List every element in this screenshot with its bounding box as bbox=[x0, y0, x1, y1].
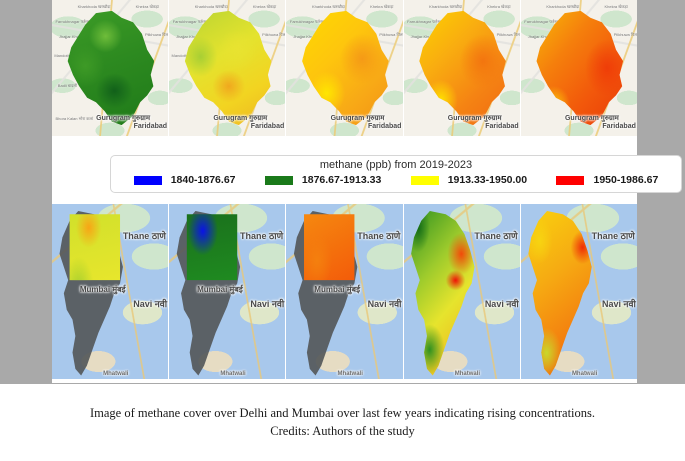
place-label-badli: Badli बादली bbox=[58, 84, 77, 88]
legend-swatch-green bbox=[265, 176, 293, 185]
place-label-pilkhuwa: Pilkhuwa पिलखुवा bbox=[145, 33, 168, 37]
place-label-bhorakalan: Bhora Kalan भोरा कलां bbox=[55, 117, 93, 121]
figure-plate: Kharkhoda खरखौदा Khekra खेकड़ा Farrukhna… bbox=[52, 0, 637, 383]
legend-item-label: 1950-1986.67 bbox=[593, 174, 658, 186]
legend-item-label: 1876.67-1913.33 bbox=[302, 174, 381, 186]
mumbai-map-panel-4[interactable]: Thane ठाणे Navi नवी Mhatwali bbox=[404, 204, 520, 379]
mumbai-map-panel-1[interactable]: Mumbai मुंबई Thane ठाणे Navi नवी Mhatwal… bbox=[52, 204, 168, 379]
legend-item-label: 1913.33-1950.00 bbox=[448, 174, 527, 186]
legend-item: 1840-1876.67 bbox=[134, 174, 236, 186]
place-label-khekra: Khekra खेकड़ा bbox=[253, 5, 276, 9]
mumbai-map-panel-3[interactable]: Thane ठाणे Navi नवी Mumbai मुंबई Mhatwal… bbox=[286, 204, 402, 379]
delhi-map-row: Kharkhoda खरखौदा Khekra खेकड़ा Farrukhna… bbox=[52, 0, 637, 136]
delhi-map-panel-1[interactable]: Kharkhoda खरखौदा Khekra खेकड़ा Farrukhna… bbox=[52, 0, 168, 136]
place-label-pilkhuwa: Pilkhuwa पिलखुवा bbox=[379, 33, 402, 37]
legend-swatch-yellow bbox=[411, 176, 439, 185]
delhi-map-panel-2[interactable]: Kharkhoda खरखौदा Khekra खेकड़ा Farrukhna… bbox=[169, 0, 285, 136]
place-label-khekra: Khekra खेकड़ा bbox=[604, 5, 627, 9]
place-label-kharkhoda: Kharkhoda खरखौदा bbox=[78, 5, 111, 9]
legend-swatch-red bbox=[556, 176, 584, 185]
delhi-map-panel-5[interactable]: Kharkhoda खरखौदा Khekra खेकड़ा Farrukhna… bbox=[521, 0, 637, 136]
legend-item: 1913.33-1950.00 bbox=[411, 174, 527, 186]
place-label-khekra: Khekra खेकड़ा bbox=[487, 5, 510, 9]
legend-item-label: 1840-1876.67 bbox=[171, 174, 236, 186]
place-label-khekra: Khekra खेकड़ा bbox=[136, 5, 159, 9]
caption-line-2: Credits: Authors of the study bbox=[0, 422, 685, 440]
place-label-pilkhuwa: Pilkhuwa पिलखुवा bbox=[497, 33, 520, 37]
legend-swatch-blue bbox=[134, 176, 162, 185]
place-label-kharkhoda: Kharkhoda खरखौदा bbox=[546, 5, 579, 9]
methane-legend: methane (ppb) from 2019-2023 1840-1876.6… bbox=[110, 155, 682, 193]
place-label-kharkhoda: Kharkhoda खरखौदा bbox=[429, 5, 462, 9]
mumbai-map-row: Mumbai मुंबई Thane ठाणे Navi नवी Mhatwal… bbox=[52, 204, 637, 379]
legend-item: 1876.67-1913.33 bbox=[265, 174, 381, 186]
mumbai-map-panel-2[interactable]: Thane ठाणे Navi नवी Mumbai मुंबई Mhatwal… bbox=[169, 204, 285, 379]
place-label-kharkhoda: Kharkhoda खरखौदा bbox=[195, 5, 228, 9]
place-label-pilkhuwa: Pilkhuwa पिलखुवा bbox=[614, 33, 637, 37]
delhi-map-panel-4[interactable]: Kharkhoda खरखौदा Khekra खेकड़ा Farrukhna… bbox=[404, 0, 520, 136]
place-label-khekra: Khekra खेकड़ा bbox=[370, 5, 393, 9]
place-label-kharkhoda: Kharkhoda खरखौदा bbox=[312, 5, 345, 9]
figure-caption: Image of methane cover over Delhi and Mu… bbox=[0, 404, 685, 440]
legend-title: methane (ppb) from 2019-2023 bbox=[111, 159, 681, 171]
place-label-pilkhuwa: Pilkhuwa पिलखुवा bbox=[262, 33, 285, 37]
mumbai-map-panel-5[interactable]: Thane ठाणे Navi नवी Mhatwali bbox=[521, 204, 637, 379]
delhi-map-panel-3[interactable]: Kharkhoda खरखौदा Khekra खेकड़ा Farrukhna… bbox=[286, 0, 402, 136]
legend-item: 1950-1986.67 bbox=[556, 174, 658, 186]
legend-items: 1840-1876.67 1876.67-1913.33 1913.33-195… bbox=[111, 174, 681, 186]
figure-gray-backdrop: Kharkhoda खरखौदा Khekra खेकड़ा Farrukhna… bbox=[0, 0, 685, 384]
caption-line-1: Image of methane cover over Delhi and Mu… bbox=[0, 404, 685, 422]
